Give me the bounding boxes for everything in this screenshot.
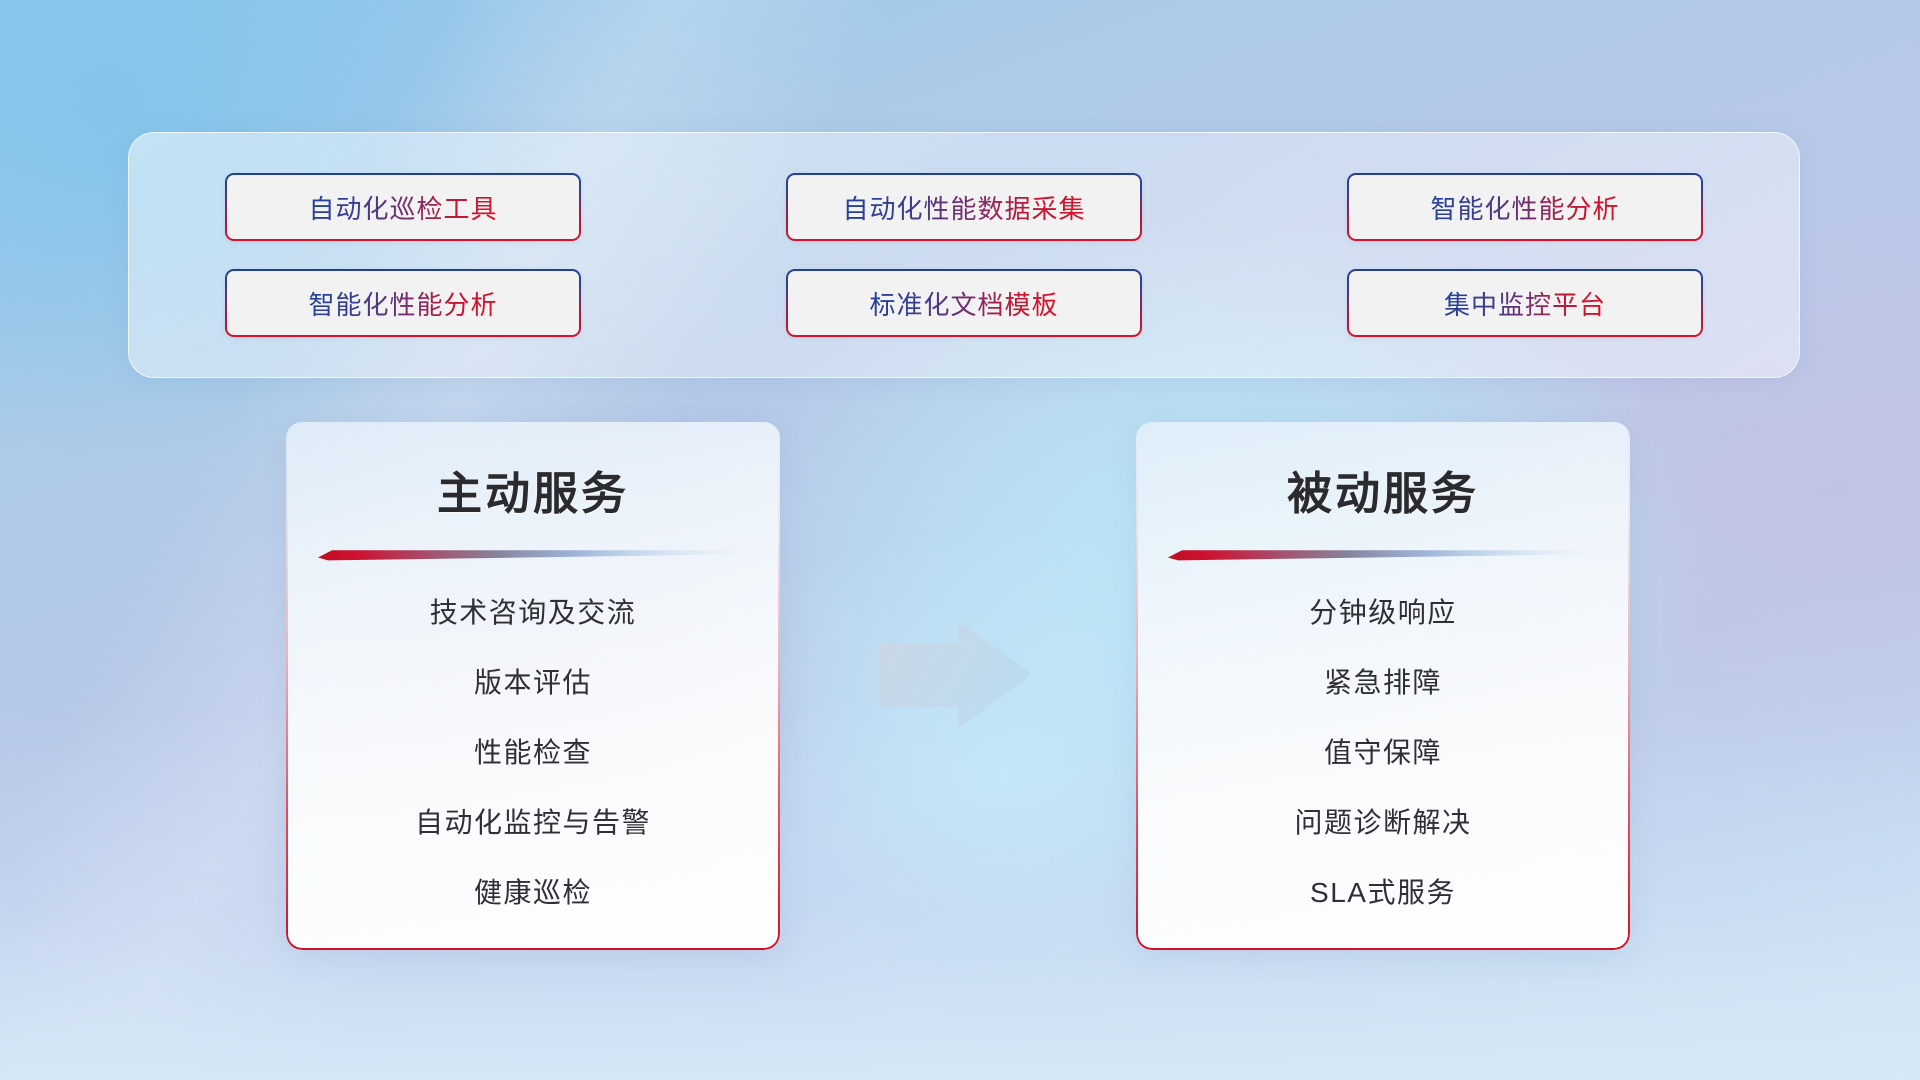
service-card-title: 主动服务 [286,457,780,522]
slide-canvas: 自动化巡检工具 自动化性能数据采集 智能化性能分析 智能化性能分析 [0,0,1920,1080]
capability-row-1: 自动化巡检工具 自动化性能数据采集 智能化性能分析 [225,173,1703,241]
capability-pill-intelligent-perf-analysis-2[interactable]: 智能化性能分析 [225,269,581,337]
capability-pill-label: 标准化文档模板 [869,285,1058,322]
service-item[interactable]: 分钟级响应 [1309,591,1457,631]
capability-pill-intelligent-perf-analysis[interactable]: 智能化性能分析 [1347,173,1703,241]
capability-pill-label: 智能化性能分析 [1430,189,1619,226]
pill-inner: 集中监控平台 [1349,271,1701,335]
capability-pill-standard-doc-template[interactable]: 标准化文档模板 [786,269,1142,337]
service-item[interactable]: SLA式服务 [1310,871,1456,911]
pill-inner: 自动化巡检工具 [227,175,579,239]
capability-pill-label: 自动化性能数据采集 [842,189,1085,226]
service-item[interactable]: 问题诊断解决 [1294,801,1471,841]
service-item[interactable]: 技术咨询及交流 [430,591,637,631]
capability-pill-auto-inspection-tool[interactable]: 自动化巡检工具 [225,173,581,241]
capability-panel: 自动化巡检工具 自动化性能数据采集 智能化性能分析 智能化性能分析 [128,132,1800,378]
service-item[interactable]: 值守保障 [1324,731,1442,771]
pill-inner: 标准化文档模板 [788,271,1140,335]
service-item-list: 分钟级响应 紧急排障 值守保障 问题诊断解决 SLA式服务 [1136,591,1630,911]
service-card-passive[interactable]: 被动服务 分钟级响应 紧急排障 [1136,422,1630,950]
service-item[interactable]: 紧急排障 [1324,661,1442,701]
service-item-list: 技术咨询及交流 版本评估 性能检查 自动化监控与告警 健康巡检 [286,591,780,911]
capability-row-2: 智能化性能分析 标准化文档模板 集中监控平台 [225,269,1703,337]
capability-pill-label: 智能化性能分析 [308,285,497,322]
title-divider-shape [318,548,748,561]
title-divider [318,548,748,561]
capability-pill-auto-perf-data-collection[interactable]: 自动化性能数据采集 [786,173,1142,241]
service-card-title: 被动服务 [1136,457,1630,522]
service-item[interactable]: 版本评估 [474,661,592,701]
service-item[interactable]: 自动化监控与告警 [415,801,651,841]
title-divider-shape [1168,548,1598,561]
service-card-active[interactable]: 主动服务 技术咨询及交流 版本评估 [286,422,780,950]
right-arrow-icon [872,622,1032,730]
capability-pill-label: 集中监控平台 [1444,285,1606,322]
pill-inner: 自动化性能数据采集 [788,175,1140,239]
title-divider [1168,548,1598,561]
service-item[interactable]: 健康巡检 [474,871,592,911]
pill-inner: 智能化性能分析 [227,271,579,335]
capability-pill-label: 自动化巡检工具 [308,189,497,226]
capability-pill-central-monitoring-platform[interactable]: 集中监控平台 [1347,269,1703,337]
pill-inner: 智能化性能分析 [1349,175,1701,239]
service-item[interactable]: 性能检查 [474,731,592,771]
